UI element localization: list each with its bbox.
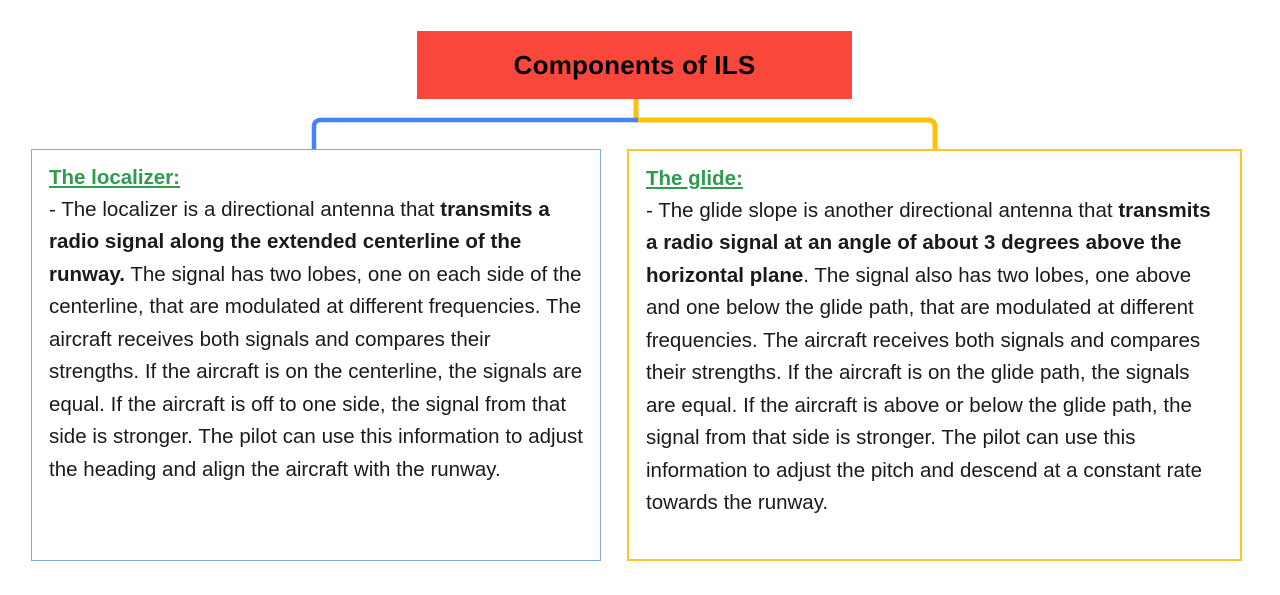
glide-text-rest: . The signal also has two lobes, one abo… [646, 264, 1202, 514]
panel-localizer[interactable]: The localizer: - The localizer is a dire… [31, 149, 601, 561]
connector-to-glide-path [636, 99, 935, 149]
panel-glide-heading: The glide: [646, 165, 1223, 193]
panel-localizer-heading: The localizer: [49, 164, 583, 192]
panel-glide-body: - The glide slope is another directional… [646, 195, 1223, 520]
diagram-title-node[interactable]: Components of ILS [417, 31, 852, 99]
panel-localizer-body: - The localizer is a directional antenna… [49, 194, 583, 486]
ils-components-diagram: Components of ILS The localizer: - The l… [0, 0, 1280, 595]
connector-to-localizer-path [314, 120, 638, 149]
panel-glide[interactable]: The glide: - The glide slope is another … [627, 149, 1242, 561]
diagram-title-label: Components of ILS [514, 52, 756, 78]
localizer-text-intro: - The localizer is a directional antenna… [49, 198, 440, 221]
glide-text-intro: - The glide slope is another directional… [646, 199, 1118, 222]
localizer-text-rest: The signal has two lobes, one on each si… [49, 263, 583, 481]
